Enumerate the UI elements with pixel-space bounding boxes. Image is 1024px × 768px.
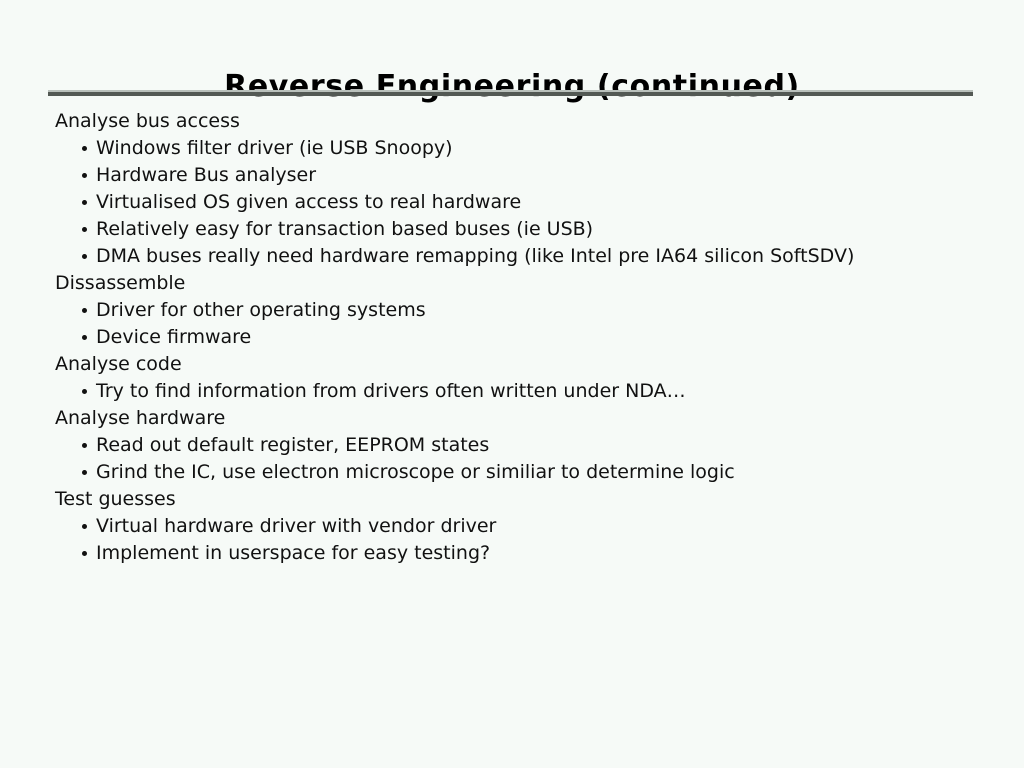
outline-bullet-item: Virtualised OS given access to real hard… bbox=[0, 189, 1024, 216]
outline-bullet-label: Grind the IC, use electron microscope or… bbox=[96, 459, 735, 486]
outline-bullet-label: Windows filter driver (ie USB Snoopy) bbox=[96, 135, 453, 162]
outline-heading-label: Test guesses bbox=[55, 488, 176, 510]
divider-shadow bbox=[48, 92, 973, 96]
bullet-dot-icon bbox=[82, 173, 87, 178]
title-divider bbox=[48, 90, 973, 96]
outline-bullet-label: Hardware Bus analyser bbox=[96, 162, 316, 189]
outline-heading-label: Analyse code bbox=[55, 353, 182, 375]
outline-heading: Test guesses bbox=[0, 486, 1024, 513]
outline-bullet-item: Relatively easy for transaction based bu… bbox=[0, 216, 1024, 243]
outline-bullet-item: Virtual hardware driver with vendor driv… bbox=[0, 513, 1024, 540]
bullet-dot-icon bbox=[82, 551, 87, 556]
outline-bullet-label: Try to find information from drivers oft… bbox=[96, 378, 686, 405]
outline-bullet-label: Implement in userspace for easy testing? bbox=[96, 540, 490, 567]
bullet-dot-icon bbox=[82, 146, 87, 151]
outline-bullet-item: DMA buses really need hardware remapping… bbox=[0, 243, 1024, 270]
outline-heading-label: Analyse bus access bbox=[55, 110, 240, 132]
outline-heading: Analyse bus access bbox=[0, 108, 1024, 135]
outline-bullet-label: Device firmware bbox=[96, 324, 251, 351]
bullet-dot-icon bbox=[82, 308, 87, 313]
outline-heading: Analyse hardware bbox=[0, 405, 1024, 432]
bullet-dot-icon bbox=[82, 335, 87, 340]
outline-bullet-item: Windows filter driver (ie USB Snoopy) bbox=[0, 135, 1024, 162]
bullet-dot-icon bbox=[82, 200, 87, 205]
outline-bullet-item: Implement in userspace for easy testing? bbox=[0, 540, 1024, 567]
outline-bullet-label: DMA buses really need hardware remapping… bbox=[96, 243, 854, 270]
outline-heading-label: Analyse hardware bbox=[55, 407, 225, 429]
outline-bullet-item: Hardware Bus analyser bbox=[0, 162, 1024, 189]
outline-heading: Dissassemble bbox=[0, 270, 1024, 297]
bullet-dot-icon bbox=[82, 389, 87, 394]
outline-bullet-item: Read out default register, EEPROM states bbox=[0, 432, 1024, 459]
outline-bullet-label: Virtual hardware driver with vendor driv… bbox=[96, 513, 496, 540]
page-title: Reverse Engineering (continued) bbox=[0, 68, 1024, 106]
outline-bullet-item: Try to find information from drivers oft… bbox=[0, 378, 1024, 405]
outline-bullet-label: Virtualised OS given access to real hard… bbox=[96, 189, 521, 216]
outline-bullet-label: Driver for other operating systems bbox=[96, 297, 426, 324]
outline-bullet-label: Relatively easy for transaction based bu… bbox=[96, 216, 593, 243]
outline-heading: Analyse code bbox=[0, 351, 1024, 378]
outline-bullet-item: Grind the IC, use electron microscope or… bbox=[0, 459, 1024, 486]
bullet-dot-icon bbox=[82, 524, 87, 529]
outline-bullet-label: Read out default register, EEPROM states bbox=[96, 432, 489, 459]
bullet-dot-icon bbox=[82, 443, 87, 448]
outline-bullet-item: Driver for other operating systems bbox=[0, 297, 1024, 324]
bullet-dot-icon bbox=[82, 227, 87, 232]
bullet-dot-icon bbox=[82, 470, 87, 475]
bullet-dot-icon bbox=[82, 254, 87, 259]
outline-heading-label: Dissassemble bbox=[55, 272, 185, 294]
slide: Reverse Engineering (continued) Analyse … bbox=[0, 0, 1024, 768]
content-outline: Analyse bus accessWindows filter driver … bbox=[0, 108, 1024, 567]
outline-bullet-item: Device firmware bbox=[0, 324, 1024, 351]
